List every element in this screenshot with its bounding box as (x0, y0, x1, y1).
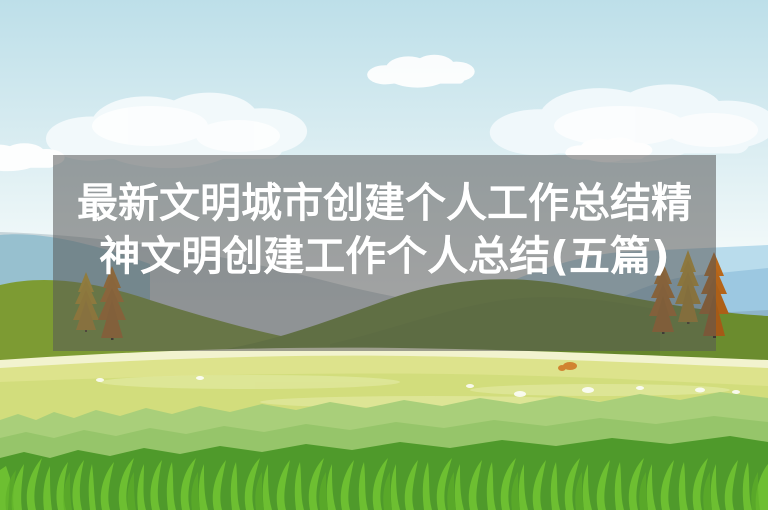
image-canvas: 最新文明城市创建个人工作总结精神文明创建工作个人总结(五篇) (0, 0, 768, 510)
page-title: 最新文明城市创建个人工作总结精神文明创建工作个人总结(五篇) (53, 155, 716, 284)
title-overlay-banner: 最新文明城市创建个人工作总结精神文明创建工作个人总结(五篇) (53, 155, 716, 351)
